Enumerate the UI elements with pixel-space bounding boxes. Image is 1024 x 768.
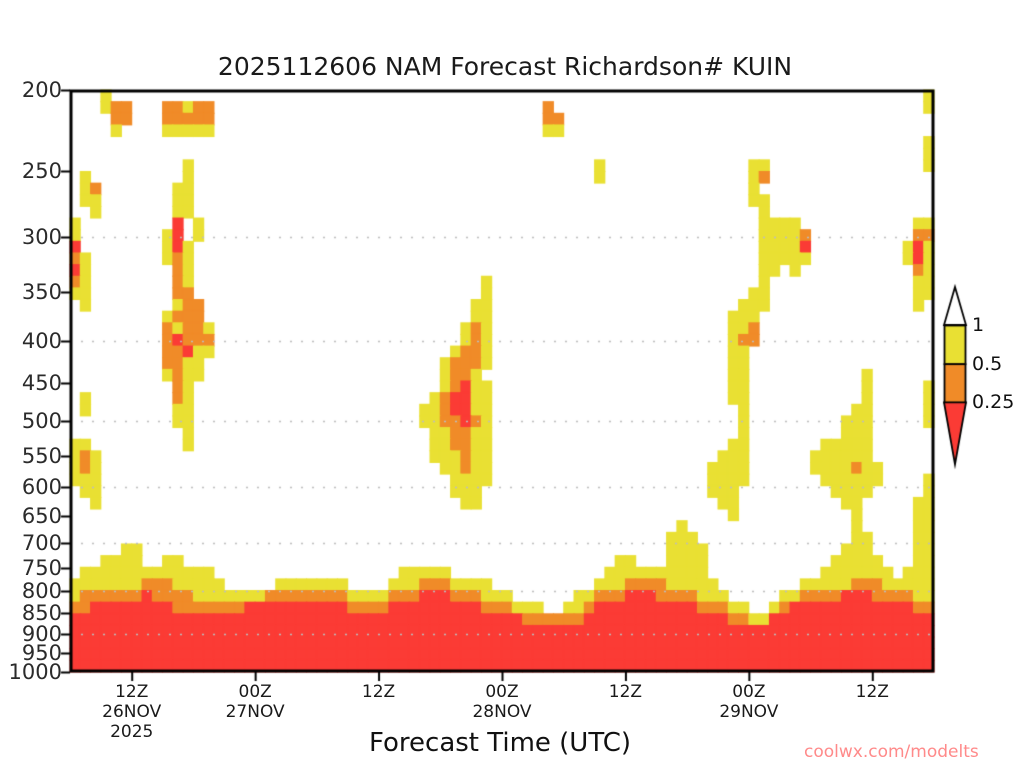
x-tick-year: 2025 xyxy=(72,722,192,742)
x-tick-date: 29NOV xyxy=(689,702,809,722)
x-tick-time: 00Z xyxy=(195,682,315,702)
x-tick-group-5: 00Z29NOV xyxy=(689,682,809,722)
colorbar-tick-1: 1 xyxy=(972,314,984,336)
site-watermark: coolwx.com/modelts xyxy=(804,742,1019,762)
x-tick-group-6: 12Z xyxy=(812,682,932,702)
x-tick-time: 00Z xyxy=(689,682,809,702)
x-tick-group-4: 12Z xyxy=(565,682,685,702)
colorbar-tick-0.5: 0.5 xyxy=(972,353,1002,375)
chart-page: 2025112606 NAM Forecast Richardson# KUIN… xyxy=(0,0,1024,768)
x-tick-time: 12Z xyxy=(72,682,192,702)
x-tick-date: 27NOV xyxy=(195,702,315,722)
x-tick-group-0: 12Z26NOV2025 xyxy=(72,682,192,742)
x-tick-date: 28NOV xyxy=(442,702,562,722)
y-tick-500: 500 xyxy=(0,411,62,432)
x-tick-group-1: 00Z27NOV xyxy=(195,682,315,722)
x-tick-time: 12Z xyxy=(812,682,932,702)
x-tick-time: 00Z xyxy=(442,682,562,702)
y-tick-850: 850 xyxy=(0,603,62,624)
x-tick-date: 26NOV xyxy=(72,702,192,722)
y-tick-600: 600 xyxy=(0,477,62,498)
y-tick-300: 300 xyxy=(0,227,62,248)
colorbar-tick-0.25: 0.25 xyxy=(972,391,1014,413)
richardson-number-heatmap[interactable] xyxy=(0,0,1024,768)
y-tick-400: 400 xyxy=(0,331,62,352)
x-tick-time: 12Z xyxy=(319,682,439,702)
y-tick-250: 250 xyxy=(0,161,62,182)
y-tick-350: 350 xyxy=(0,282,62,303)
x-tick-time: 12Z xyxy=(565,682,685,702)
y-tick-700: 700 xyxy=(0,533,62,554)
y-tick-1000: 1000 xyxy=(0,662,62,683)
y-tick-450: 450 xyxy=(0,373,62,394)
x-tick-group-2: 12Z xyxy=(319,682,439,702)
y-tick-200: 200 xyxy=(0,80,62,101)
x-tick-group-3: 00Z28NOV xyxy=(442,682,562,722)
x-axis-title: Forecast Time (UTC) xyxy=(190,728,810,758)
y-tick-650: 650 xyxy=(0,506,62,527)
y-tick-800: 800 xyxy=(0,581,62,602)
y-tick-750: 750 xyxy=(0,558,62,579)
y-tick-550: 550 xyxy=(0,446,62,467)
